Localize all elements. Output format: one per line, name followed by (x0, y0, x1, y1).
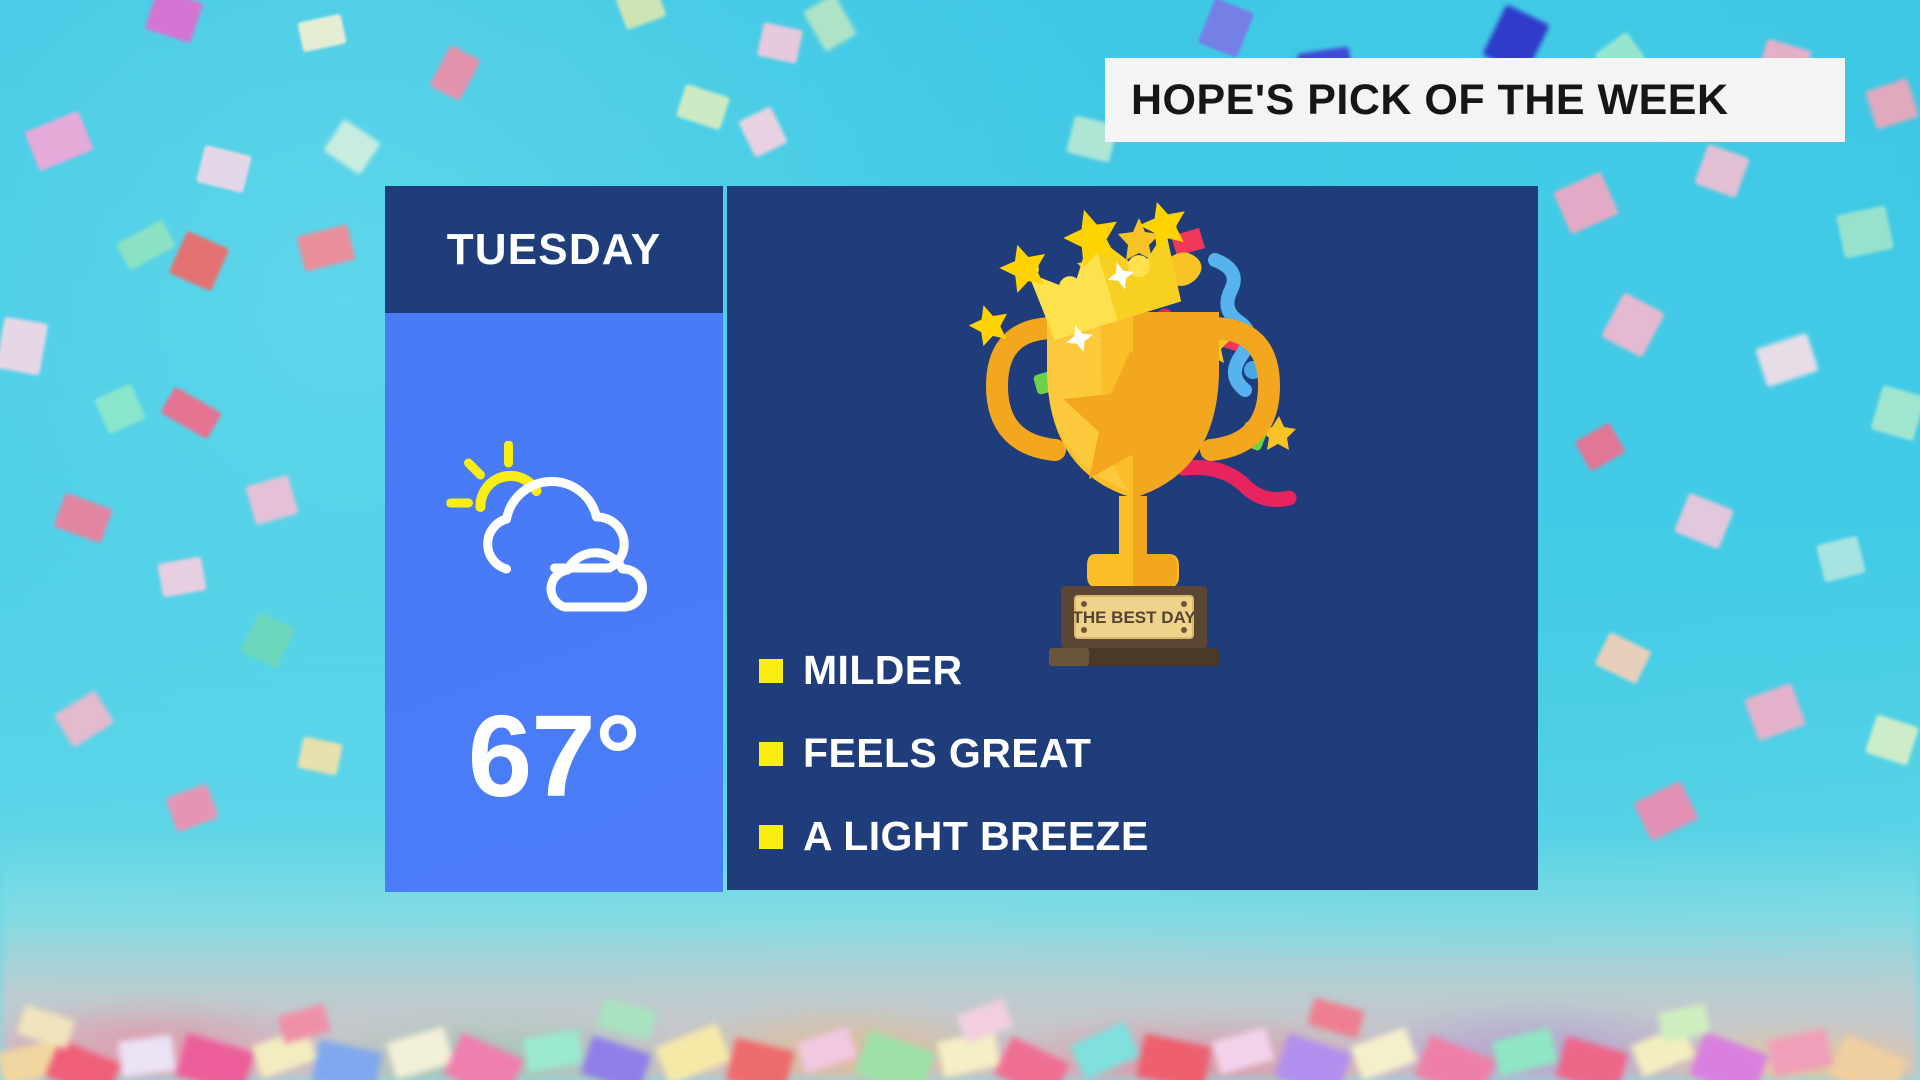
trophy-icon: THE BEST DAY (923, 200, 1343, 670)
partly-cloudy-icon (447, 441, 662, 616)
list-item: FEELS GREAT (759, 730, 1519, 777)
confetti-flake (1211, 1027, 1274, 1075)
confetti-flake (1307, 997, 1365, 1038)
confetti-flake (597, 998, 657, 1040)
bullet-square-icon (759, 659, 783, 683)
confetti-flake (854, 1029, 936, 1080)
confetti-flake (1414, 1034, 1495, 1080)
plaque-text: THE BEST DAY (1072, 608, 1196, 627)
day-header: TUESDAY (385, 186, 723, 313)
bullet-square-icon (759, 742, 783, 766)
confetti-flake (311, 1040, 382, 1080)
confetti-flake (444, 1032, 525, 1080)
confetti-flake (1136, 1033, 1212, 1080)
confetti-flake (1555, 1036, 1628, 1080)
confetti-flake (1351, 1027, 1418, 1080)
confetti-flake (175, 1033, 254, 1080)
day-name-label: TUESDAY (447, 225, 662, 275)
list-item: A LIGHT BREEZE (759, 813, 1519, 860)
weather-graphic-stage: HOPE'S PICK OF THE WEEK TUESDAY 67° (0, 0, 1920, 1080)
pick-detail-panel: THE BEST DAY MILDER FEELS GREAT A LIGHT … (727, 186, 1538, 890)
list-item-label: A LIGHT BREEZE (803, 813, 1149, 860)
confetti-flake (1070, 1021, 1140, 1080)
day-forecast-panel: TUESDAY 67° (385, 186, 723, 892)
pick-of-week-banner: HOPE'S PICK OF THE WEEK (1105, 58, 1845, 142)
bullet-square-icon (759, 825, 783, 849)
list-item: MILDER (759, 647, 1519, 694)
confetti-flake (726, 1037, 795, 1080)
confetti-flake (118, 1034, 176, 1077)
confetti-flake (1689, 1032, 1769, 1080)
confetti-flake (994, 1036, 1070, 1080)
banner-title: HOPE'S PICK OF THE WEEK (1131, 76, 1729, 125)
list-item-label: MILDER (803, 647, 963, 694)
confetti-flake (655, 1023, 731, 1080)
confetti-flake (580, 1035, 651, 1080)
confetti-pile (0, 900, 1920, 1080)
confetti-flake (17, 1005, 76, 1050)
confetti-flake (1275, 1033, 1352, 1080)
confetti-flake (796, 1026, 857, 1073)
temperature-value: 67° (385, 698, 723, 814)
day-body: 67° (385, 313, 723, 892)
confetti-flake (1829, 1034, 1907, 1080)
highlight-list: MILDER FEELS GREAT A LIGHT BREEZE (759, 647, 1519, 864)
confetti-flake (277, 1004, 331, 1044)
confetti-flake (1767, 1028, 1834, 1078)
trophy-illustration: THE BEST DAY (923, 200, 1343, 670)
confetti-flake (956, 998, 1013, 1043)
confetti-flake (522, 1029, 583, 1072)
confetti-flake (1492, 1027, 1559, 1076)
list-item-label: FEELS GREAT (803, 730, 1091, 777)
